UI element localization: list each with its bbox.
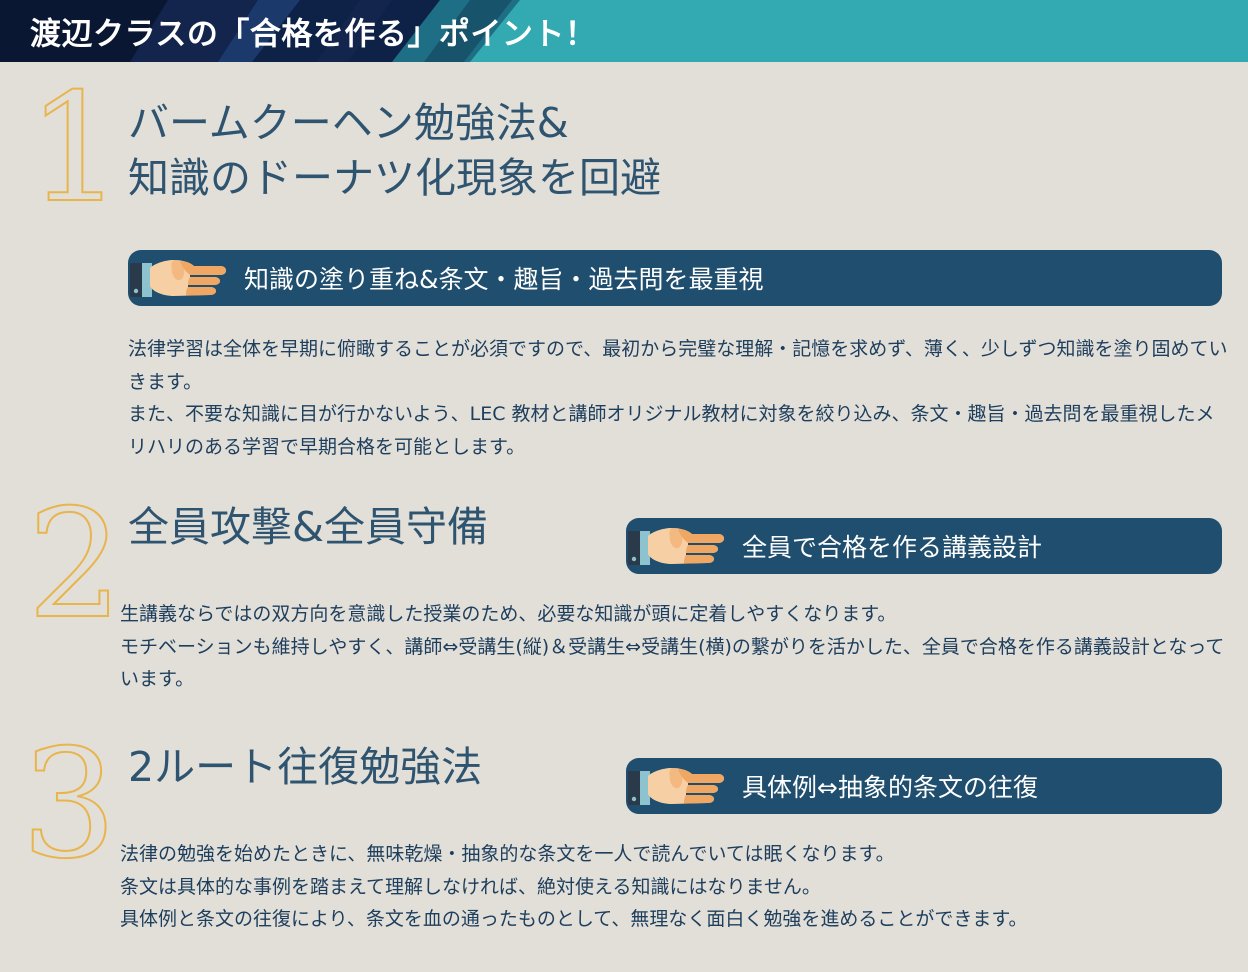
section-3-heading-line-1: 2ルート往復勉強法 <box>128 740 482 795</box>
pointing-hand-icon <box>626 523 730 569</box>
section-3-banner[interactable]: 具体例⇔抽象的条文の往復 <box>626 758 1222 814</box>
section-2-numeral: 2 <box>20 490 130 640</box>
section-3-heading: 2ルート往復勉強法 <box>128 740 482 795</box>
section-2-paragraph-2: モチベーションも維持しやすく、講師⇔受講生(縦)＆受講生⇔受講生(横)の繋がりを… <box>120 631 1232 696</box>
section-1-paragraph-1: 法律学習は全体を早期に俯瞰することが必須ですので、最初から完璧な理解・記憶を求め… <box>128 333 1232 398</box>
section-3-body: 法律の勉強を始めたときに、無味乾燥・抽象的な条文を一人で読んでいては眠くなります… <box>120 838 1240 936</box>
section-3-numeral: 3 <box>14 730 124 880</box>
section-1-numeral: 1 <box>20 74 130 224</box>
section-2-heading-line-1: 全員攻撃&全員守備 <box>128 500 488 555</box>
pointing-hand-icon <box>128 255 232 301</box>
section-2-banner-label: 全員で合格を作る講義設計 <box>742 528 1042 564</box>
section-1-heading-line-1: バームクーヘン勉強法& <box>128 96 661 151</box>
section-1-heading-line-2: 知識のドーナツ化現象を回避 <box>128 151 661 206</box>
section-1-paragraph-2: また、不要な知識に目が行かないよう、LEC 教材と講師オリジナル教材に対象を絞り… <box>128 398 1232 463</box>
section-3-paragraph-2: 条文は具体的な事例を踏まえて理解しなければ、絶対使える知識にはなりません。 <box>120 871 1240 904</box>
page-title: 渡辺クラスの「合格を作る」ポイント！ <box>30 9 596 54</box>
section-3-banner-label: 具体例⇔抽象的条文の往復 <box>742 768 1038 804</box>
section-2-banner[interactable]: 全員で合格を作る講義設計 <box>626 518 1222 574</box>
section-1-banner-label: 知識の塗り重ね&条文・趣旨・過去問を最重視 <box>244 260 764 296</box>
section-1-body: 法律学習は全体を早期に俯瞰することが必須ですので、最初から完璧な理解・記憶を求め… <box>128 333 1232 464</box>
section-1-heading: バームクーヘン勉強法& 知識のドーナツ化現象を回避 <box>128 96 661 205</box>
section-2-heading: 全員攻撃&全員守備 <box>128 500 488 555</box>
pointing-hand-icon <box>626 763 730 809</box>
section-3-paragraph-1: 法律の勉強を始めたときに、無味乾燥・抽象的な条文を一人で読んでいては眠くなります… <box>120 838 1240 871</box>
section-2-body: 生講義ならではの双方向を意識した授業のため、必要な知識が頭に定着しやすくなります… <box>120 598 1232 696</box>
section-1-banner[interactable]: 知識の塗り重ね&条文・趣旨・過去問を最重視 <box>128 250 1222 306</box>
section-3-paragraph-3: 具体例と条文の往復により、条文を血の通ったものとして、無理なく面白く勉強を進める… <box>120 903 1240 936</box>
section-2-paragraph-1: 生講義ならではの双方向を意識した授業のため、必要な知識が頭に定着しやすくなります… <box>120 598 1232 631</box>
page-header: 渡辺クラスの「合格を作る」ポイント！ <box>0 0 1248 62</box>
